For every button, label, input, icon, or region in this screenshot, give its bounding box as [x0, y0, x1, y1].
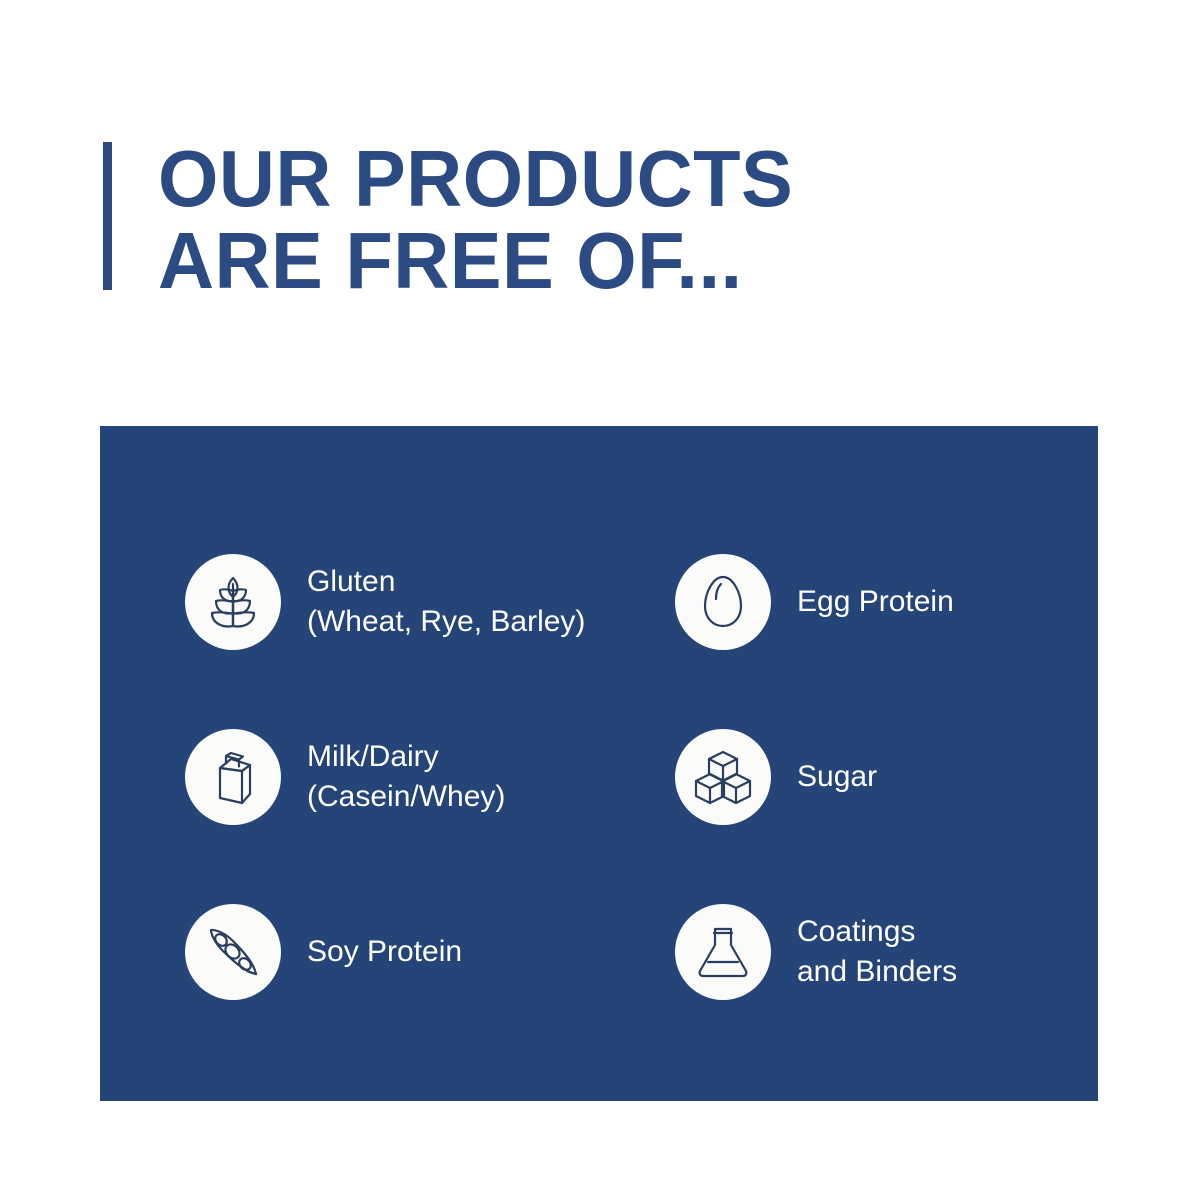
milk-carton-icon	[185, 729, 281, 825]
wheat-icon	[185, 554, 281, 650]
list-item: Milk/Dairy (Casein/Whey)	[185, 689, 675, 864]
title-line-2: ARE FREE OF...	[158, 220, 793, 302]
list-item-label: Coatings and Binders	[797, 912, 957, 992]
flask-icon	[675, 904, 771, 1000]
list-item: Gluten (Wheat, Rye, Barley)	[185, 514, 675, 689]
list-item-label: Gluten (Wheat, Rye, Barley)	[307, 562, 585, 642]
list-item-label: Sugar	[797, 757, 877, 797]
free-from-grid: Gluten (Wheat, Rye, Barley) Egg Protein	[185, 514, 1045, 1039]
soybean-pod-icon	[185, 904, 281, 1000]
list-item: Soy Protein	[185, 864, 675, 1039]
list-item-label: Milk/Dairy (Casein/Whey)	[307, 737, 505, 817]
list-item: Sugar	[675, 689, 1045, 864]
list-item: Egg Protein	[675, 514, 1045, 689]
list-item-label: Egg Protein	[797, 582, 954, 622]
egg-icon	[675, 554, 771, 650]
poster-canvas: OUR PRODUCTS ARE FREE OF...	[0, 0, 1200, 1200]
title-line-1: OUR PRODUCTS	[158, 138, 793, 220]
sugar-cubes-icon	[675, 729, 771, 825]
list-item: Coatings and Binders	[675, 864, 1045, 1039]
page-title: OUR PRODUCTS ARE FREE OF...	[103, 138, 813, 302]
free-from-panel: Gluten (Wheat, Rye, Barley) Egg Protein	[100, 426, 1098, 1101]
title-accent-bar	[103, 142, 112, 290]
list-item-label: Soy Protein	[307, 932, 462, 972]
title-text: OUR PRODUCTS ARE FREE OF...	[158, 138, 793, 302]
